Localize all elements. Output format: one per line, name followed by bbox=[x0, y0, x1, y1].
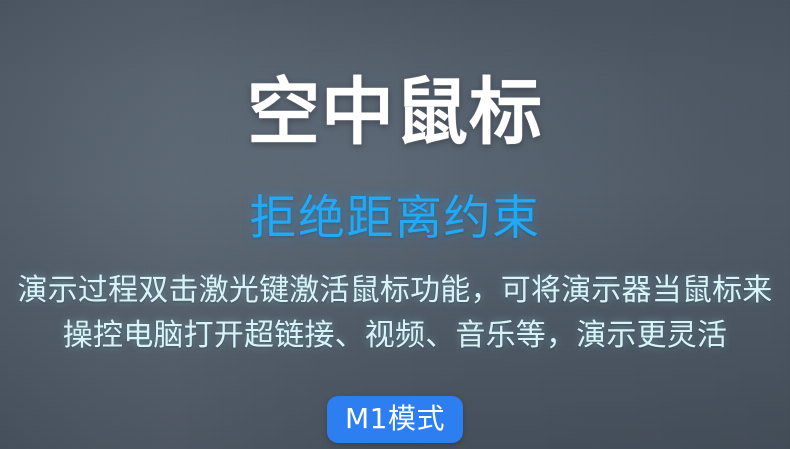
banner-subheadline: 拒绝距离约束 bbox=[0, 190, 790, 248]
banner-description: 演示过程双击激光键激活鼠标功能，可将演示器当鼠标来 操控电脑打开超链接、视频、音… bbox=[0, 268, 790, 358]
mode-badge-m1[interactable]: M1模式 bbox=[327, 396, 463, 443]
product-feature-banner: 空中鼠标 拒绝距离约束 演示过程双击激光键激活鼠标功能，可将演示器当鼠标来 操控… bbox=[0, 0, 790, 449]
banner-content: 空中鼠标 拒绝距离约束 演示过程双击激光键激活鼠标功能，可将演示器当鼠标来 操控… bbox=[0, 0, 790, 449]
description-line-1: 演示过程双击激光键激活鼠标功能，可将演示器当鼠标来 bbox=[0, 268, 790, 313]
description-line-2: 操控电脑打开超链接、视频、音乐等，演示更灵活 bbox=[0, 313, 790, 358]
banner-headline: 空中鼠标 bbox=[0, 72, 790, 154]
mode-badge-row: M1模式 bbox=[0, 396, 790, 443]
